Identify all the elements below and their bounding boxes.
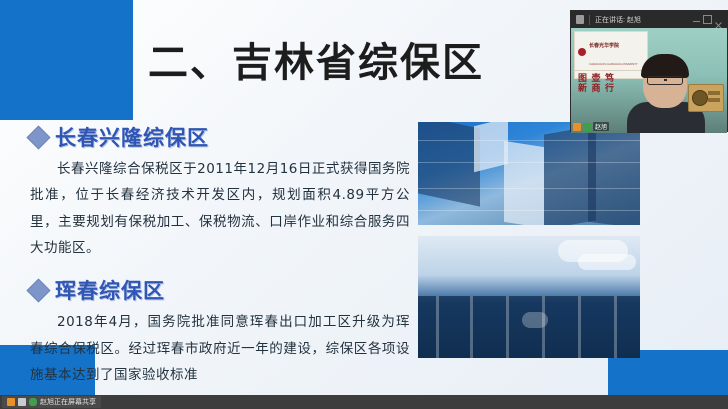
video-feed[interactable]: 长春光华学院 CHANGCHUN GUANGHUA UNIVERSITY 图 壶… <box>571 28 727 133</box>
participant-glasses <box>647 76 683 85</box>
section-changchun: 长春兴隆综保区 长春兴隆综合保税区于2011年12月16日正式获得国务院批准，位… <box>30 122 410 261</box>
slide-body: 长春兴隆综保区 长春兴隆综合保税区于2011年12月16日正式获得国务院批准，位… <box>30 122 410 398</box>
screen-share-status[interactable]: 赵旭正在屏幕共享 <box>2 396 101 408</box>
section-heading-text: 珲春综保区 <box>55 275 165 305</box>
screen-share-view: 二、吉林省综保区 长春兴隆综保区 长春兴隆综合保税区于2011年12月16日正式… <box>0 0 728 409</box>
participant-name-badge: 赵旭 <box>573 122 609 131</box>
skyscrapers-upward-view-photo <box>418 122 640 225</box>
screen-share-icon <box>18 398 26 406</box>
radio-speaker-icon <box>692 90 708 106</box>
diamond-bullet-icon <box>26 125 50 149</box>
glass-building-sky-photo <box>418 236 640 358</box>
motto-line-2: 新 商 行 <box>578 83 644 93</box>
radio-prop <box>688 84 724 112</box>
user-icon <box>7 398 15 406</box>
section-heading-row: 珲春综保区 <box>30 275 410 305</box>
university-name-english: CHANGCHUN GUANGHUA UNIVERSITY <box>589 63 638 66</box>
video-panel-titlebar[interactable]: 正在讲话: 赵旭 <box>571 11 727 28</box>
microphone-icon <box>29 398 37 406</box>
section-heading-row: 长春兴隆综保区 <box>30 122 410 152</box>
university-name: 长春光华学院 <box>589 43 619 49</box>
diamond-bullet-icon <box>26 278 50 302</box>
motto-line-1: 图 壶 笃 <box>578 73 644 83</box>
section-hunchun: 珲春综保区 2018年4月，国务院批准同意珲春出口加工区升级为珲春综合保税区。经… <box>30 275 410 388</box>
decor-block-top-left <box>0 0 133 120</box>
section-paragraph: 2018年4月，国务院批准同意珲春出口加工区升级为珲春综合保税区。经过珲春市政府… <box>30 309 410 388</box>
microphone-icon <box>583 123 591 131</box>
banner-motto: 图 壶 笃 新 商 行 <box>575 71 647 96</box>
app-icon <box>576 15 584 24</box>
screen-share-status-text: 赵旭正在屏幕共享 <box>40 397 96 407</box>
participant-name: 赵旭 <box>593 122 609 131</box>
radio-dial <box>708 91 720 95</box>
taskbar: 赵旭正在屏幕共享 <box>0 395 728 409</box>
close-icon[interactable] <box>715 16 722 23</box>
user-icon <box>573 123 581 131</box>
university-banner: 长春光华学院 CHANGCHUN GUANGHUA UNIVERSITY 图 壶… <box>574 31 648 79</box>
maximize-icon[interactable] <box>703 15 712 24</box>
slide-title: 二、吉林省综保区 <box>148 30 484 88</box>
window-controls[interactable] <box>693 15 722 24</box>
minimize-icon[interactable] <box>693 17 700 22</box>
section-paragraph: 长春兴隆综合保税区于2011年12月16日正式获得国务院批准，位于长春经济技术开… <box>30 156 410 261</box>
titlebar-divider <box>589 15 590 25</box>
speaking-status-text: 正在讲话: 赵旭 <box>595 15 641 25</box>
university-seal-icon <box>578 48 586 56</box>
video-call-panel[interactable]: 正在讲话: 赵旭 长春光华学院 CHANGCHUN GU <box>570 10 728 132</box>
radio-dial <box>708 98 720 102</box>
banner-header: 长春光华学院 CHANGCHUN GUANGHUA UNIVERSITY <box>575 32 647 71</box>
participant-hair <box>641 54 689 78</box>
section-heading-text: 长春兴隆综保区 <box>55 122 209 152</box>
